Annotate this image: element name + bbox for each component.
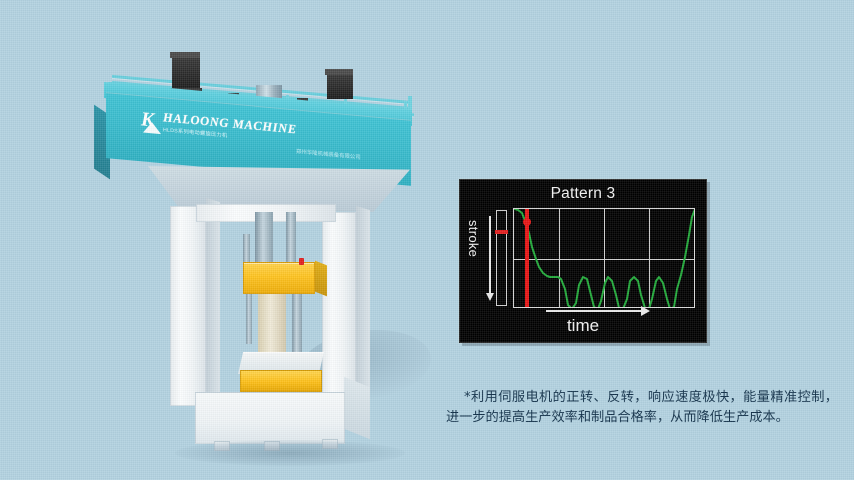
upright-column-right-inner <box>356 206 370 409</box>
guide-rod-lower-right <box>292 292 302 352</box>
ram-side-face <box>315 261 327 297</box>
servo-motor-left <box>172 56 200 90</box>
stroke-position-marker <box>495 230 508 234</box>
upright-column-left-inner <box>206 198 220 407</box>
stroke-curve-plot <box>514 209 695 308</box>
machine-ground-shadow <box>175 440 405 466</box>
chart-title: Pattern 3 <box>460 185 706 203</box>
base-front-face <box>195 392 345 444</box>
y-axis-label: stroke <box>466 220 481 257</box>
haloong-logo-mark: K <box>141 109 163 133</box>
base-side-face <box>344 377 370 440</box>
screw-shaft-center <box>255 212 273 268</box>
stroke-pattern-chart-panel: Pattern 3 stroke time <box>459 179 707 343</box>
press-machine-illustration: K HALOONG MACHINE HLDS系列电动螺旋压力机 郑州华隆机械装备… <box>0 0 460 480</box>
chart-plot-area <box>513 208 695 308</box>
stroke-direction-arrow-icon <box>489 216 491 294</box>
screenshot-stage: K HALOONG MACHINE HLDS系列电动螺旋压力机 郑州华隆机械装备… <box>0 0 854 480</box>
caption-body: *利用伺服电机的正转、反转，响应速度极快，能量精准控制，进一步的提高生产效率和制… <box>446 390 838 425</box>
stroke-curve-path <box>515 209 695 308</box>
bolster-plate <box>240 370 322 392</box>
caption-text: *利用伺服电机的正转、反转，响应速度极快，能量精准控制，进一步的提高生产效率和制… <box>446 388 838 428</box>
servo-motor-left-cap <box>170 52 200 58</box>
stroke-position-gauge <box>496 210 507 306</box>
servo-motor-right <box>327 73 353 99</box>
time-direction-arrow-icon <box>546 310 642 312</box>
x-axis-label: time <box>460 316 706 336</box>
servo-motor-right-cap <box>325 69 353 75</box>
ram-column-center <box>258 292 286 354</box>
time-cursor-dot <box>523 218 531 226</box>
guide-rod-right <box>286 212 296 268</box>
ram-indicator-light <box>299 258 304 265</box>
ram-slide <box>243 262 315 294</box>
guide-rod-lower-left <box>246 292 252 344</box>
upright-column-left <box>170 206 206 406</box>
